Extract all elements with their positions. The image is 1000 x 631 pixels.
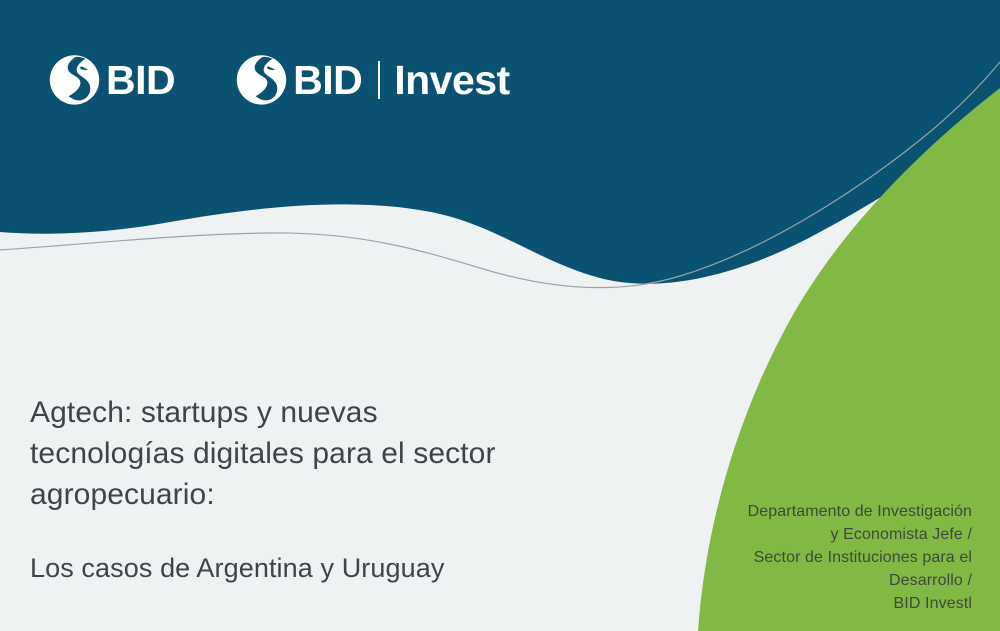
bid-logo: BID [48,54,175,106]
presentation-slide: BID BID Invest Agtech: startups y nuevas… [0,0,1000,631]
title-block: Agtech: startups y nuevas tecnologías di… [30,392,630,585]
bid-invest-sub-wordmark: Invest [394,60,510,101]
page-title-line: agropecuario: [30,474,630,515]
department-credit-line: Desarrollo / [672,569,972,592]
department-credit-block: Departamento de Investigación y Economis… [672,500,972,615]
page-subtitle: Los casos de Argentina y Uruguay [30,551,630,585]
bid-invest-logo: BID Invest [235,54,510,106]
bid-globe-icon [48,54,100,106]
bid-invest-wordmark: BID [293,60,362,101]
page-title-line: tecnologías digitales para el sector [30,433,630,474]
logo-divider [378,61,380,99]
department-credit-line: Sector de Instituciones para el [672,546,972,569]
bid-logo-wordmark: BID [106,60,175,101]
bid-globe-icon [235,54,287,106]
page-title-line: Agtech: startups y nuevas [30,392,630,433]
page-title: Agtech: startups y nuevas tecnologías di… [30,392,630,515]
department-credit-line: Departamento de Investigación [672,500,972,523]
logo-bar: BID BID Invest [0,0,1000,160]
department-credit-line: BID Investl [672,592,972,615]
department-credit-line: y Economista Jefe / [672,523,972,546]
